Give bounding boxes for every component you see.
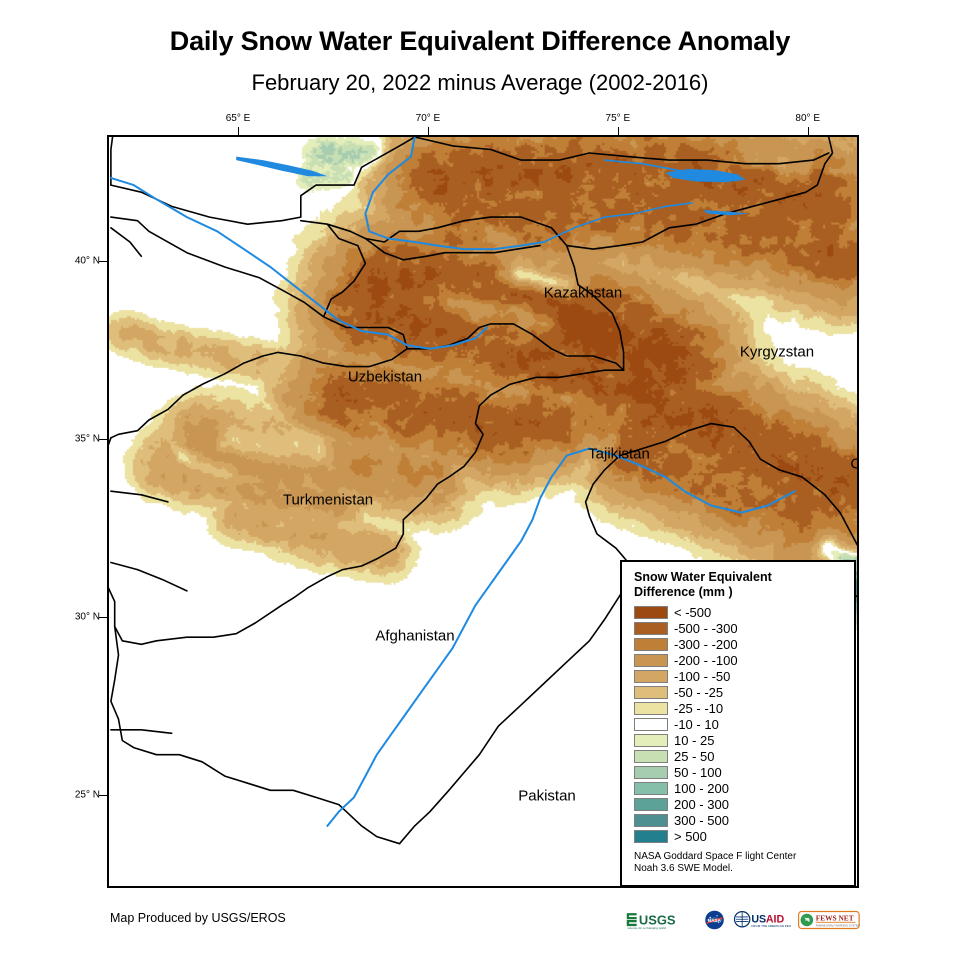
lat-tick-label-3: 25° N [66,790,100,801]
lake-issyk-kul [665,169,745,182]
lon-tick-label-2: 75° E [606,113,631,124]
map-page: Daily Snow Water Equivalent Difference A… [0,0,960,960]
usgs-logo: USGS science for a changing world [626,909,696,931]
country-label-afghanistan: Afghanistan [375,628,454,645]
legend-row: -10 - 10 [634,716,844,732]
lon-tick-label-0: 65° E [226,113,251,124]
border-tm-af [111,217,407,438]
country-label-tajikistan: Tajikistan [588,446,650,463]
legend-row: 300 - 500 [634,812,844,828]
legend-label: 50 - 100 [674,766,722,779]
legend-row: 50 - 100 [634,764,844,780]
agency-logo-row: USGS science for a changing world NASA U… [626,908,860,932]
legend-swatch [634,814,668,827]
lat-tick-mark-3 [99,795,107,796]
nasa-logo: NASA [703,909,726,931]
border-uz-kg [301,217,567,246]
legend-panel: Snow Water Equivalent Difference (mm ) <… [620,560,856,887]
lake-toktogul [703,210,749,215]
legend-swatch [634,702,668,715]
border-inner-w [111,228,141,256]
svg-text:FEWS NET: FEWS NET [816,913,854,922]
border-kg-cn [567,137,833,249]
border-ir-af [109,438,115,627]
legend-label: -500 - -300 [674,622,738,635]
legend-row: 100 - 200 [634,780,844,796]
lat-tick-label-2: 30° N [66,612,100,623]
country-label-china: China [850,456,859,473]
legend-label: 10 - 25 [674,734,714,747]
border-kz-uz [111,137,415,224]
legend-title: Snow Water Equivalent Difference (mm ) [634,570,844,600]
border-inner-s [111,563,187,591]
svg-text:science for a changing world: science for a changing world [628,926,667,930]
country-label-uzbekistan: Uzbekistan [348,369,422,386]
legend-label: -200 - -100 [674,654,738,667]
usaid-logo: US AID FROM THE AMERICAN PEOPLE [733,909,791,931]
country-label-turkmenistan: Turkmenistan [283,492,373,509]
country-label-kyrgyzstan: Kyrgyzstan [740,344,814,361]
border-tj-cn [567,246,624,371]
lat-tick-mark-2 [99,617,107,618]
border-pk-coast [111,627,400,844]
legend-row: < -500 [634,604,844,620]
legend-label: 300 - 500 [674,814,729,827]
legend-row: -300 - -200 [634,636,844,652]
legend-label: > 500 [674,830,707,843]
legend-row: 25 - 50 [634,748,844,764]
legend-label: < -500 [674,606,711,619]
lat-tick-mark-0 [99,261,107,262]
legend-label: -50 - -25 [674,686,723,699]
legend-swatch [634,606,668,619]
legend-swatch [634,718,668,731]
legend-row: 200 - 300 [634,796,844,812]
legend-swatch [634,798,668,811]
legend-row: -50 - -25 [634,684,844,700]
legend-swatch [634,766,668,779]
legend-label: -300 - -200 [674,638,738,651]
border-fergana [365,239,540,260]
legend-swatch [634,670,668,683]
river-chu [605,160,681,171]
lon-tick-mark-3 [808,127,809,135]
svg-text:FAMINE EARLY WARNING SYSTEMS N: FAMINE EARLY WARNING SYSTEMS NETWORK [816,923,860,927]
legend-row: 10 - 25 [634,732,844,748]
legend-swatch [634,686,668,699]
legend-row: -25 - -10 [634,700,844,716]
legend-label: 25 - 50 [674,750,714,763]
page-title: Daily Snow Water Equivalent Difference A… [0,26,960,57]
legend-swatch [634,782,668,795]
legend-swatch [634,654,668,667]
border-inner-sw [111,491,168,502]
legend-label: -10 - 10 [674,718,719,731]
footer-credit: Map Produced by USGS/EROS [110,911,286,925]
country-label-pakistan: Pakistan [518,788,576,805]
lat-tick-mark-1 [99,439,107,440]
border-uz-tj [324,224,366,317]
page-subtitle: February 20, 2022 minus Average (2002-20… [0,70,960,96]
legend-row: -100 - -50 [634,668,844,684]
lon-tick-mark-1 [428,127,429,135]
lon-tick-mark-2 [618,127,619,135]
legend-row: > 500 [634,828,844,844]
legend-swatch [634,830,668,843]
lat-tick-label-0: 40° N [66,256,100,267]
legend-row: -200 - -100 [634,652,844,668]
border-kz-kg [415,137,829,164]
legend-swatch [634,638,668,651]
svg-text:FROM THE AMERICAN PEOPLE: FROM THE AMERICAN PEOPLE [751,924,791,928]
legend-label: 200 - 300 [674,798,729,811]
lake-aral [236,157,327,177]
legend-label: -25 - -10 [674,702,723,715]
lon-tick-mark-0 [238,127,239,135]
legend-label: -100 - -50 [674,670,730,683]
lat-tick-label-1: 35° N [66,434,100,445]
lon-tick-label-1: 70° E [416,113,441,124]
river-syr-darya [365,137,544,249]
legend-swatch [634,622,668,635]
legend-swatch [634,750,668,763]
fewsnet-logo: FEWS NET FAMINE EARLY WARNING SYSTEMS NE… [798,909,860,931]
legend-class-list: < -500-500 - -300-300 - -200-200 - -100-… [634,604,844,844]
svg-text:USGS: USGS [639,913,676,928]
country-label-kazakhstan: Kazakhstan [544,285,622,302]
svg-text:NASA: NASA [708,918,722,923]
lon-tick-label-3: 80° E [795,113,820,124]
legend-source-note: NASA Goddard Space F light Center Noah 3… [634,851,844,875]
legend-swatch [634,734,668,747]
river-naryn [544,203,692,242]
legend-row: -500 - -300 [634,620,844,636]
legend-label: 100 - 200 [674,782,729,795]
